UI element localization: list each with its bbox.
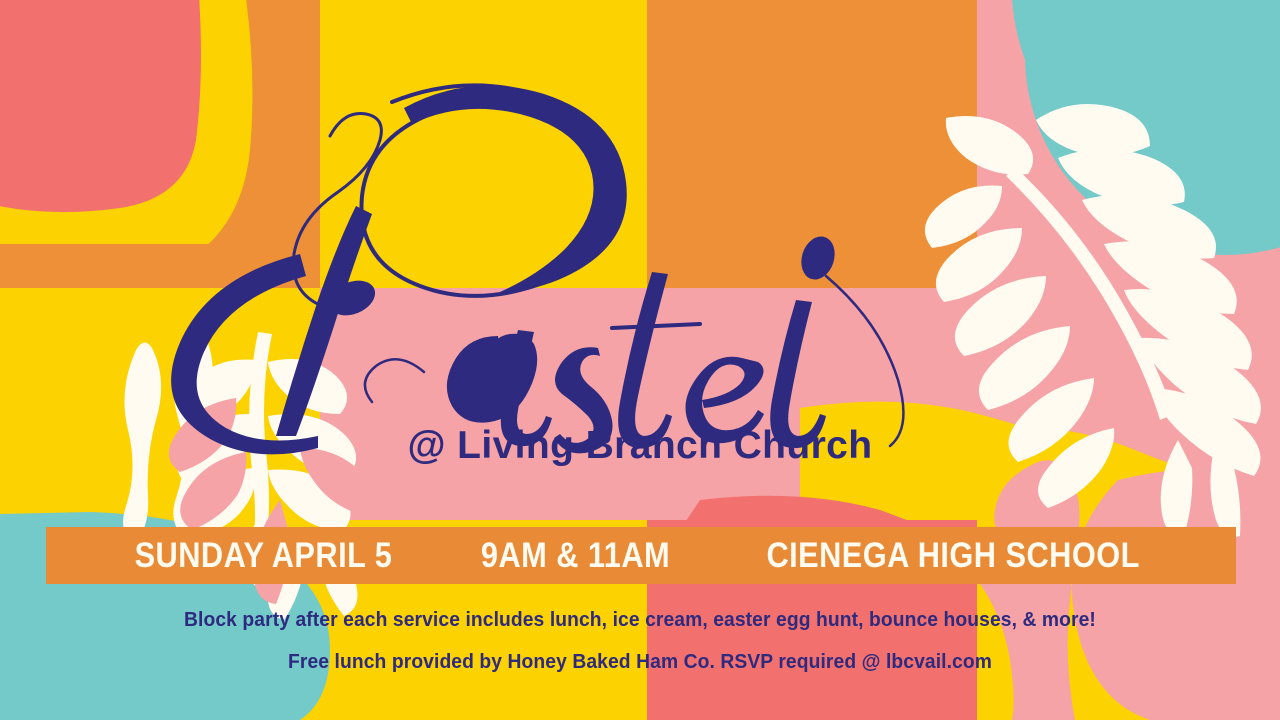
event-times: 9AM & 11AM bbox=[481, 536, 670, 576]
footer-details: Block party after each service includes … bbox=[0, 608, 1280, 674]
footer-line-activities: Block party after each service includes … bbox=[38, 608, 1241, 632]
event-info-banner: SUNDAY APRIL 5 9AM & 11AM CIENEGA HIGH S… bbox=[46, 527, 1236, 584]
easter-event-poster: Easter bbox=[0, 0, 1280, 720]
event-venue: CIENEGA HIGH SCHOOL bbox=[766, 536, 1139, 576]
footer-line-rsvp: Free lunch provided by Honey Baked Ham C… bbox=[38, 650, 1241, 674]
subtitle-living-branch-church: @ Living Branch Church bbox=[0, 424, 1280, 468]
event-date: SUNDAY APRIL 5 bbox=[134, 536, 392, 576]
